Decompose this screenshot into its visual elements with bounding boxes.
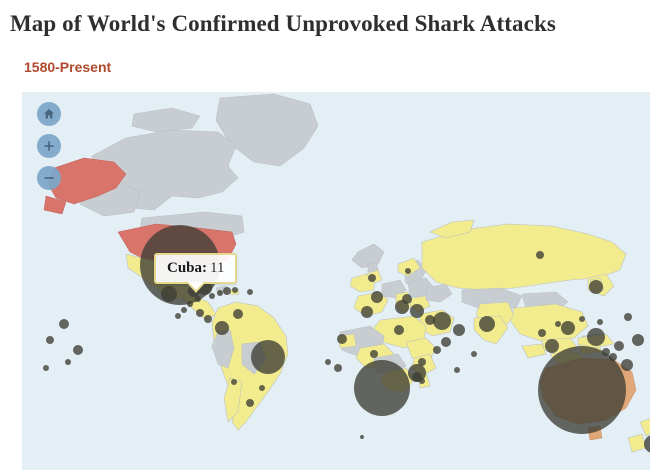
tooltip-country: Cuba <box>167 260 202 276</box>
map-tooltip: Cuba:11 <box>154 253 237 284</box>
page-title: Map of World's Confirmed Unprovoked Shar… <box>10 10 556 38</box>
world-map-svg[interactable]: .land{stroke:#b9bfc4;stroke-width:.55;} … <box>22 92 650 470</box>
zoom-in-button[interactable] <box>37 134 61 158</box>
tooltip-value: 11 <box>210 260 224 276</box>
world-map[interactable]: .land{stroke:#b9bfc4;stroke-width:.55;} … <box>22 92 650 470</box>
tooltip-pointer-inner <box>188 282 204 290</box>
plus-icon <box>43 140 55 152</box>
page-subtitle: 1580-Present <box>24 58 111 76</box>
minus-icon <box>43 172 55 184</box>
tooltip-separator: : <box>202 260 207 276</box>
zoom-out-button[interactable] <box>37 166 61 190</box>
home-button[interactable] <box>37 102 61 126</box>
shark-attack-map-page: Map of World's Confirmed Unprovoked Shar… <box>0 0 659 470</box>
home-icon <box>43 108 55 120</box>
